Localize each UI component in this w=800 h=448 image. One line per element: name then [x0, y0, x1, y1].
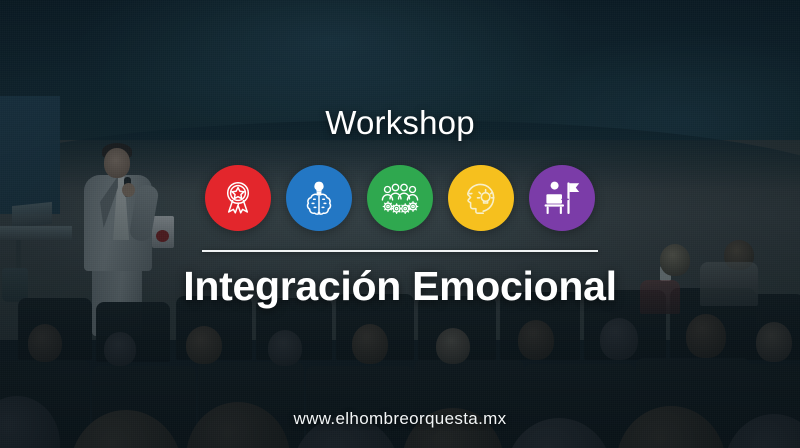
slide-headline: Integración Emocional: [183, 265, 616, 308]
icon-circle-team-gears[interactable]: [367, 165, 433, 231]
brain-lightbulb-icon: [299, 178, 339, 218]
footer-website-url[interactable]: www.elhombreorquesta.mx: [0, 409, 800, 429]
icon-circle-person-flag[interactable]: [529, 165, 595, 231]
icon-row: [205, 165, 595, 231]
slide-kicker: Workshop: [325, 106, 475, 139]
slide-overlay: Workshop: [0, 0, 800, 448]
title-divider: [202, 250, 598, 252]
person-flag-icon: [542, 178, 582, 218]
icon-circle-brain-lightbulb[interactable]: [286, 165, 352, 231]
slide-canvas: Workshop: [0, 0, 800, 448]
icon-circle-head-lightbulb[interactable]: [448, 165, 514, 231]
head-lightbulb-icon: [460, 177, 502, 219]
icon-circle-award-ribbon[interactable]: [205, 165, 271, 231]
award-ribbon-icon: [218, 178, 258, 218]
team-gears-icon: [379, 177, 421, 219]
